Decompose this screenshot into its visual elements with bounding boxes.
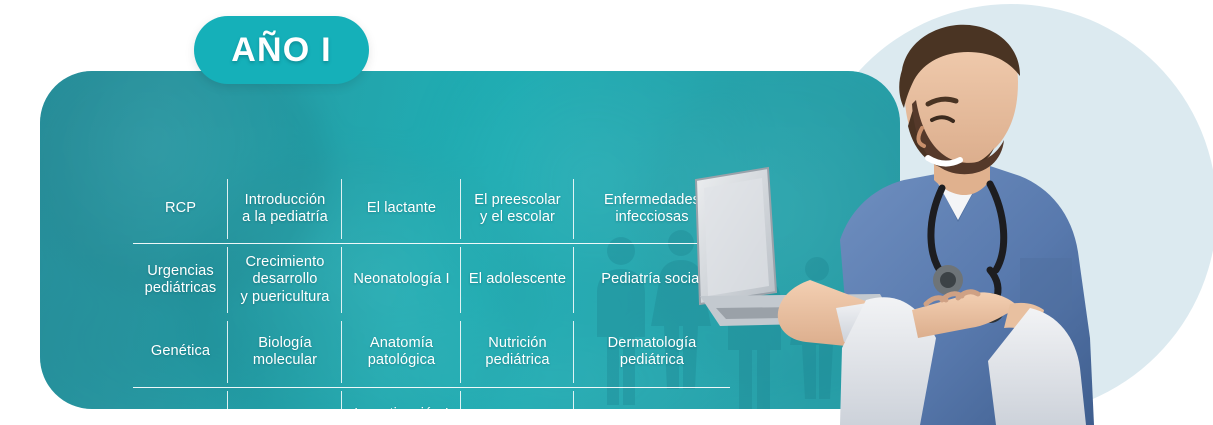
subject-label: Dermatologíapediátrica (608, 335, 697, 369)
subject-label: Pediatría social (601, 271, 702, 288)
subject-cell[interactable]: El lactante (342, 175, 461, 243)
year-badge[interactable]: AÑO I (194, 16, 369, 84)
subject-label: El adolescente (469, 271, 566, 288)
subject-cell[interactable]: Urgenciaspediátricas (133, 243, 228, 317)
subject-cell[interactable]: RCP (133, 175, 228, 243)
subject-label: Anatomíapatológica (368, 335, 436, 369)
subject-label: Enfermedadesinfecciosas (604, 192, 700, 226)
subject-cell-empty (133, 387, 228, 409)
subject-label: Crecimientodesarrolloy puericultura (240, 254, 329, 306)
subject-cell[interactable]: El adolescente (461, 243, 574, 317)
subject-cell[interactable]: El preescolary el escolar (461, 175, 574, 243)
subject-cell[interactable]: Nutriciónpediátrica (461, 317, 574, 387)
subject-cell-empty (228, 387, 342, 409)
subject-label: El preescolary el escolar (474, 192, 560, 226)
subject-cell[interactable]: Crecimientodesarrolloy puericultura (228, 243, 342, 317)
subject-label: Biologíamolecular (253, 335, 317, 369)
subject-cell[interactable]: Investigación I (342, 387, 461, 409)
subject-cell-empty (461, 387, 574, 409)
curriculum-banner: RCP Introduccióna la pediatría El lactan… (0, 0, 1213, 425)
subject-cell[interactable]: Anatomíapatológica (342, 317, 461, 387)
subject-grid: RCP Introduccióna la pediatría El lactan… (133, 175, 730, 409)
subject-label: Urgenciaspediátricas (145, 263, 217, 297)
subject-label: Investigación I (354, 406, 449, 409)
subject-label: Genética (151, 343, 210, 360)
subject-label: Introduccióna la pediatría (242, 192, 328, 226)
year-badge-label: AÑO I (231, 31, 331, 70)
subject-label: El lactante (367, 200, 436, 217)
subject-label: RCP (165, 200, 196, 217)
subject-label: Neonatología I (353, 271, 449, 288)
subject-cell[interactable]: Introduccióna la pediatría (228, 175, 342, 243)
subject-cell[interactable]: Biologíamolecular (228, 317, 342, 387)
doctor-photo (690, 8, 1160, 425)
subject-cell[interactable]: Neonatología I (342, 243, 461, 317)
subject-label: Nutriciónpediátrica (485, 335, 549, 369)
subject-cell[interactable]: Genética (133, 317, 228, 387)
